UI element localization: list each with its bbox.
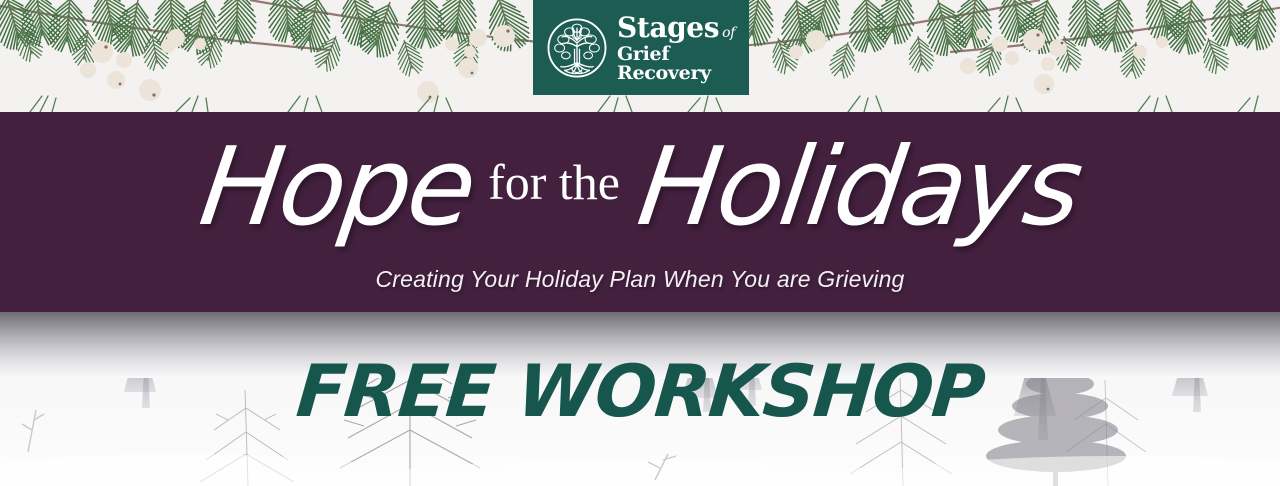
free-workshop-label: FREE WORKSHOP [294, 355, 987, 427]
headline-subtitle: Creating Your Holiday Plan When You are … [0, 266, 1280, 293]
tree-of-life-circle-icon [546, 17, 608, 79]
headline-group: Hope for the Holidays [0, 118, 1280, 258]
brand-logo-block[interactable]: Stages of Grief Recovery [533, 0, 749, 95]
brand-logo-text: Stages of Grief Recovery [617, 12, 749, 83]
brand-name-of: of [722, 26, 735, 40]
brand-name-line1: Stages of [617, 14, 749, 42]
free-workshop-cta: FREE WORKSHOP [0, 355, 1280, 427]
brand-name-stages: Stages [617, 14, 719, 42]
headline-word-holidays: Holidays [633, 138, 1085, 237]
headline-word-for-the: for the [478, 153, 630, 223]
brand-name-line2: Grief Recovery [617, 45, 749, 83]
headline-word-hope: Hope [195, 138, 479, 237]
promotional-banner: FREE WORKSHOP Hope for the Holidays Crea… [0, 0, 1280, 486]
